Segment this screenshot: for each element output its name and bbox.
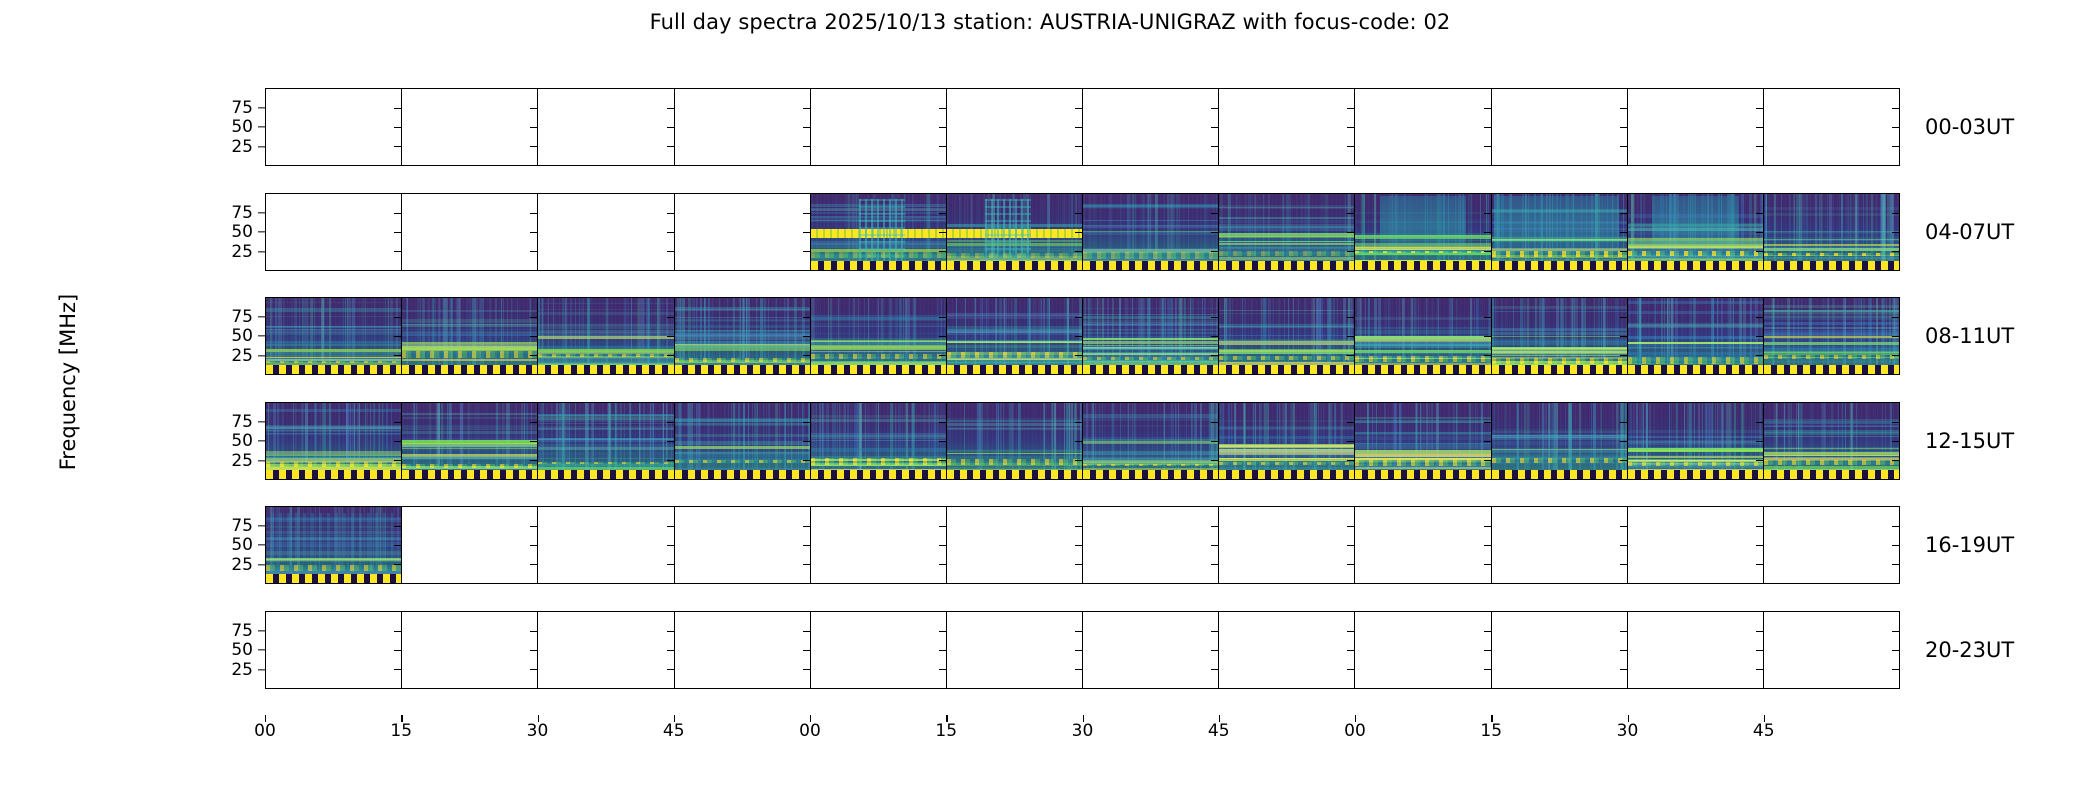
x-tick-mark xyxy=(1219,715,1220,722)
panel-tick-mark xyxy=(394,564,401,565)
panel-tick-mark xyxy=(530,232,537,233)
x-tick-mark xyxy=(1628,715,1629,722)
spectrogram-panel[interactable] xyxy=(811,298,947,374)
spectro-low-frequency-ribbon xyxy=(538,354,673,358)
spectrogram-panel[interactable] xyxy=(538,612,674,688)
spectrogram-panel[interactable] xyxy=(1764,507,1899,583)
spectrogram-panel[interactable] xyxy=(1219,612,1355,688)
panel-tick-mark xyxy=(1892,460,1899,461)
panel-tick-mark xyxy=(1075,460,1082,461)
spectrogram-panel[interactable] xyxy=(1492,89,1628,165)
figure-title: Full day spectra 2025/10/13 station: AUS… xyxy=(0,10,2100,34)
spectrogram-panel[interactable] xyxy=(1355,403,1491,479)
spectrogram-panel[interactable] xyxy=(675,403,811,479)
spectrogram-image xyxy=(811,403,946,479)
panel-tick-mark xyxy=(394,631,401,632)
panel-tick-mark xyxy=(1484,213,1491,214)
spectrogram-panel[interactable] xyxy=(675,194,811,270)
x-tick-label: 00 xyxy=(245,721,285,741)
spectrogram-panel[interactable] xyxy=(947,507,1083,583)
spectro-emission-band xyxy=(1083,220,1218,221)
spectro-emission-band xyxy=(675,423,810,427)
y-tick-label: 75 xyxy=(213,203,253,223)
y-tick-mark xyxy=(258,335,265,336)
x-tick-label: 45 xyxy=(1744,721,1784,741)
spectro-emission-band xyxy=(1764,423,1899,424)
x-tick-label: 15 xyxy=(1471,721,1511,741)
spectro-low-frequency-ribbon xyxy=(538,462,673,464)
row-axes-box xyxy=(265,88,1900,166)
row-label-2023ut: 20-23UT xyxy=(1925,638,2014,662)
spectrogram-panel[interactable] xyxy=(947,89,1083,165)
spectrogram-image xyxy=(1628,298,1763,374)
y-tick-label: 25 xyxy=(213,346,253,366)
spectrogram-panel[interactable] xyxy=(1628,612,1764,688)
panel-tick-mark xyxy=(803,526,810,527)
panel-tick-mark xyxy=(1347,669,1354,670)
panel-tick-mark xyxy=(803,545,810,546)
spectrogram-panel[interactable] xyxy=(402,507,538,583)
spectro-emission-band xyxy=(1492,222,1627,224)
panel-tick-mark xyxy=(1347,564,1354,565)
spectrogram-panel[interactable] xyxy=(1355,612,1491,688)
spectro-emission-band xyxy=(1764,336,1899,338)
spectro-emission-band xyxy=(538,467,673,469)
panel-tick-mark xyxy=(939,564,946,565)
spectrogram-panel[interactable] xyxy=(1219,194,1355,270)
spectro-emission-band xyxy=(1764,316,1899,318)
spectrogram-panel[interactable] xyxy=(402,89,538,165)
panel-tick-mark xyxy=(667,213,674,214)
spectro-emission-band xyxy=(266,558,401,560)
spectrogram-panel[interactable] xyxy=(1219,507,1355,583)
panel-tick-mark xyxy=(667,650,674,651)
spectrogram-panel[interactable] xyxy=(538,298,674,374)
spectrogram-panel[interactable] xyxy=(1764,612,1899,688)
spectrogram-panel[interactable] xyxy=(1628,403,1764,479)
spectrogram-panel[interactable] xyxy=(538,507,674,583)
panel-tick-mark xyxy=(394,422,401,423)
spectro-emission-band xyxy=(1083,207,1218,209)
spectro-emission-band xyxy=(1355,432,1490,435)
spectro-emission-band xyxy=(1083,322,1218,325)
spectro-calibration-dash-band xyxy=(1355,261,1490,270)
y-tick-label: 75 xyxy=(213,412,253,432)
spectro-emission-band xyxy=(1083,338,1218,340)
y-tick-mark xyxy=(258,107,265,108)
spectrogram-panel[interactable] xyxy=(1355,194,1491,270)
spectrogram-panel[interactable] xyxy=(1219,403,1355,479)
panel-tick-mark xyxy=(939,526,946,527)
spectrogram-image xyxy=(1083,403,1218,479)
spectro-low-frequency-ribbon xyxy=(811,354,946,359)
spectrogram-panel[interactable] xyxy=(675,298,811,374)
spectrogram-panel[interactable] xyxy=(1083,298,1219,374)
x-tick-label: 45 xyxy=(1199,721,1239,741)
panel-tick-mark xyxy=(939,355,946,356)
spectrogram-panel[interactable] xyxy=(947,403,1083,479)
panel-tick-mark xyxy=(1892,213,1899,214)
spectrogram-panel[interactable] xyxy=(1764,403,1899,479)
spectro-emission-band xyxy=(1355,417,1490,419)
spectro-low-frequency-ribbon xyxy=(1355,460,1490,465)
spectro-emission-band xyxy=(811,326,946,327)
spectro-low-frequency-ribbon xyxy=(266,565,401,572)
spectrogram-image xyxy=(538,403,673,479)
spectro-low-frequency-ribbon xyxy=(402,464,537,468)
panel-tick-mark xyxy=(803,460,810,461)
panel-tick-mark xyxy=(667,336,674,337)
spectrogram-panel[interactable] xyxy=(1355,89,1491,165)
spectro-emission-band xyxy=(1628,301,1763,303)
panel-tick-mark xyxy=(939,213,946,214)
spectro-emission-band xyxy=(402,334,537,336)
spectrogram-image xyxy=(811,194,946,270)
spectro-low-frequency-ribbon xyxy=(1764,253,1899,255)
panel-tick-mark xyxy=(1756,232,1763,233)
spectro-emission-band xyxy=(1355,249,1490,251)
panel-tick-mark xyxy=(1484,441,1491,442)
spectro-emission-band xyxy=(1219,450,1354,451)
spectro-emission-band xyxy=(1219,217,1354,219)
spectro-calibration-dash-band xyxy=(538,365,673,374)
spectro-emission-band xyxy=(1628,232,1763,235)
panel-tick-mark xyxy=(1211,232,1218,233)
spectro-emission-band xyxy=(1764,348,1899,351)
spectro-emission-band xyxy=(538,426,673,427)
panel-tick-mark xyxy=(394,460,401,461)
spectrogram-panel[interactable] xyxy=(811,507,947,583)
spectro-emission-band xyxy=(266,433,401,434)
spectro-calibration-dash-band xyxy=(1355,365,1490,374)
spectrogram-image xyxy=(1628,194,1763,270)
panel-tick-mark xyxy=(1075,108,1082,109)
spectro-emission-band xyxy=(1355,237,1490,239)
spectrogram-panel[interactable] xyxy=(538,89,674,165)
panel-tick-mark xyxy=(1756,545,1763,546)
spectro-emission-band xyxy=(1764,448,1899,449)
spectrogram-image xyxy=(1492,403,1627,479)
panel-tick-mark xyxy=(1620,564,1627,565)
spectro-low-frequency-ribbon xyxy=(1492,458,1627,463)
spectrogram-panel[interactable] xyxy=(266,89,402,165)
spectro-emission-band xyxy=(1083,204,1218,206)
spectrogram-panel[interactable] xyxy=(947,298,1083,374)
spectro-emission-band xyxy=(1083,414,1218,418)
spectro-emission-band xyxy=(1219,420,1354,422)
spectrogram-panel[interactable] xyxy=(402,612,538,688)
spectro-emission-band xyxy=(1355,447,1490,449)
spectrogram-panel[interactable] xyxy=(1083,403,1219,479)
spectrogram-image xyxy=(1355,403,1490,479)
panel-tick-mark xyxy=(394,108,401,109)
panel-tick-mark xyxy=(939,422,946,423)
panel-tick-mark xyxy=(394,317,401,318)
panel-tick-mark xyxy=(1756,650,1763,651)
spectro-emission-band xyxy=(538,303,673,304)
panel-tick-mark xyxy=(1075,526,1082,527)
spectro-emission-band xyxy=(1355,240,1490,241)
panel-tick-mark xyxy=(530,441,537,442)
spectro-emission-band xyxy=(1083,441,1218,444)
spectro-emission-band xyxy=(675,346,810,348)
spectro-emission-band xyxy=(402,346,537,348)
spectro-emission-band xyxy=(1628,342,1763,344)
panel-tick-mark xyxy=(1211,146,1218,147)
x-tick-label: 00 xyxy=(790,721,830,741)
spectrogram-panel[interactable] xyxy=(1764,89,1899,165)
panel-tick-mark xyxy=(1211,355,1218,356)
x-tick-label: 30 xyxy=(1608,721,1648,741)
panel-tick-mark xyxy=(1484,355,1491,356)
panel-tick-mark xyxy=(1075,232,1082,233)
x-tick-label: 15 xyxy=(926,721,966,741)
panel-tick-mark xyxy=(803,441,810,442)
spectrogram-panel[interactable] xyxy=(811,403,947,479)
panel-tick-mark xyxy=(1892,526,1899,527)
spectro-emission-band xyxy=(1628,325,1763,326)
spectro-emission-band xyxy=(1083,332,1218,334)
panel-tick-mark xyxy=(939,317,946,318)
panel-tick-mark xyxy=(1620,146,1627,147)
spectro-emission-band xyxy=(1764,305,1899,309)
panel-tick-mark xyxy=(1484,108,1491,109)
y-tick-mark xyxy=(258,251,265,252)
panel-tick-mark xyxy=(530,526,537,527)
spectro-emission-band xyxy=(1628,240,1763,243)
spectrogram-image xyxy=(1355,194,1490,270)
spectrogram-image xyxy=(266,298,401,374)
panel-tick-mark xyxy=(667,669,674,670)
spectro-calibration-dash-band xyxy=(1764,470,1899,479)
panel-tick-mark xyxy=(667,127,674,128)
spectrogram-panel[interactable] xyxy=(402,194,538,270)
spectrogram-panel[interactable] xyxy=(266,403,402,479)
spectrogram-panel[interactable] xyxy=(675,612,811,688)
spectro-emission-band xyxy=(1219,427,1354,429)
spectrogram-panel[interactable] xyxy=(1492,612,1628,688)
panel-tick-mark xyxy=(1756,146,1763,147)
panel-tick-mark xyxy=(667,526,674,527)
y-tick-mark xyxy=(258,355,265,356)
panel-tick-mark xyxy=(1620,650,1627,651)
spectro-emission-band xyxy=(1628,244,1763,246)
spectro-emission-band xyxy=(1492,341,1627,345)
spectrogram-panel[interactable] xyxy=(1764,194,1899,270)
row-axes-box xyxy=(265,297,1900,375)
y-tick-mark xyxy=(258,649,265,650)
spectrogram-panel[interactable] xyxy=(1355,298,1491,374)
spectrogram-panel[interactable] xyxy=(1628,298,1764,374)
panel-tick-mark xyxy=(1756,631,1763,632)
spectro-emission-band xyxy=(1492,437,1627,439)
spectro-low-frequency-ribbon xyxy=(811,458,946,464)
spectrogram-panel[interactable] xyxy=(538,194,674,270)
spectro-emission-band xyxy=(811,415,946,418)
spectro-calibration-dash-band xyxy=(1219,470,1354,479)
spectrogram-panel[interactable] xyxy=(1219,298,1355,374)
spectrogram-panel[interactable] xyxy=(1492,194,1628,270)
spectrogram-panel[interactable] xyxy=(266,298,402,374)
panel-tick-mark xyxy=(1620,631,1627,632)
spectro-emission-band xyxy=(1764,426,1899,427)
spectro-low-frequency-ribbon xyxy=(947,459,1082,465)
spectro-emission-band xyxy=(402,456,537,459)
spectrogram-panel[interactable] xyxy=(402,298,538,374)
spectrogram-panel[interactable] xyxy=(266,194,402,270)
y-tick-mark xyxy=(258,231,265,232)
panel-tick-mark xyxy=(1211,441,1218,442)
spectrogram-row-08-11 xyxy=(265,297,1900,375)
panel-tick-mark xyxy=(803,669,810,670)
spectrogram-image xyxy=(1764,194,1899,270)
spectro-emission-band xyxy=(1219,445,1354,447)
spectro-low-frequency-ribbon xyxy=(1764,355,1899,358)
spectro-emission-band xyxy=(1083,225,1218,226)
spectrogram-panel[interactable] xyxy=(675,507,811,583)
y-tick-mark xyxy=(258,421,265,422)
spectro-emission-band xyxy=(675,317,810,319)
spectro-emission-band xyxy=(266,350,401,353)
y-tick-mark xyxy=(258,440,265,441)
spectrogram-row-20-23 xyxy=(265,611,1900,689)
spectro-emission-band xyxy=(266,526,401,528)
spectro-emission-band xyxy=(947,453,1082,454)
panel-tick-mark xyxy=(803,317,810,318)
panel-tick-mark xyxy=(530,545,537,546)
spectro-emission-band xyxy=(1492,216,1627,218)
spectrogram-panel[interactable] xyxy=(266,507,402,583)
panel-tick-mark xyxy=(1347,336,1354,337)
spectro-emission-band xyxy=(1219,233,1354,237)
panel-tick-mark xyxy=(1892,317,1899,318)
spectrogram-image xyxy=(1492,298,1627,374)
spectro-emission-band xyxy=(1219,310,1354,312)
spectro-emission-band xyxy=(1764,334,1899,335)
spectro-emission-band xyxy=(538,309,673,311)
spectro-emission-band xyxy=(1764,338,1899,339)
y-tick-mark xyxy=(258,212,265,213)
panel-tick-mark xyxy=(939,251,946,252)
spectrogram-panel[interactable] xyxy=(1492,403,1628,479)
spectrogram-panel[interactable] xyxy=(1492,507,1628,583)
spectro-emission-band xyxy=(1764,248,1899,251)
spectrogram-panel[interactable] xyxy=(947,194,1083,270)
panel-tick-mark xyxy=(667,545,674,546)
spectro-emission-band xyxy=(1219,440,1354,441)
spectrogram-panel[interactable] xyxy=(1083,612,1219,688)
panel-tick-mark xyxy=(803,146,810,147)
spectrogram-panel[interactable] xyxy=(811,89,947,165)
spectrogram-panel[interactable] xyxy=(1083,507,1219,583)
spectrogram-panel[interactable] xyxy=(675,89,811,165)
spectro-calibration-dash-band xyxy=(1492,470,1627,479)
spectro-emission-band xyxy=(1492,210,1627,212)
spectrogram-panel[interactable] xyxy=(1628,89,1764,165)
spectro-calibration-dash-band xyxy=(1083,470,1218,479)
panel-tick-mark xyxy=(1756,460,1763,461)
spectro-emission-band xyxy=(675,337,810,340)
spectrogram-image xyxy=(947,298,1082,374)
y-tick-mark xyxy=(258,460,265,461)
spectro-emission-band xyxy=(1628,214,1763,218)
spectro-emission-band xyxy=(538,419,673,423)
row-label-0811ut: 08-11UT xyxy=(1925,324,2014,348)
spectro-emission-band xyxy=(675,434,810,437)
panel-tick-mark xyxy=(1347,127,1354,128)
spectrogram-panel[interactable] xyxy=(1764,298,1899,374)
panel-tick-mark xyxy=(1484,669,1491,670)
panel-tick-mark xyxy=(1892,564,1899,565)
panel-tick-mark xyxy=(939,460,946,461)
y-tick-label: 25 xyxy=(213,555,253,575)
panel-tick-mark xyxy=(1892,336,1899,337)
spectro-emission-band xyxy=(1492,329,1627,332)
spectro-emission-band xyxy=(266,345,401,346)
spectro-emission-band xyxy=(1083,250,1218,251)
spectrogram-panel[interactable] xyxy=(402,403,538,479)
panel-tick-mark xyxy=(1211,650,1218,651)
x-tick-label: 00 xyxy=(1335,721,1375,741)
panel-tick-mark xyxy=(939,441,946,442)
spectrogram-panel[interactable] xyxy=(1492,298,1628,374)
spectrogram-panel[interactable] xyxy=(1083,89,1219,165)
spectrogram-panel[interactable] xyxy=(1628,194,1764,270)
panel-tick-mark xyxy=(394,232,401,233)
spectrogram-panel[interactable] xyxy=(538,403,674,479)
spectro-emission-band xyxy=(402,329,537,330)
spectro-calibration-dash-band xyxy=(538,470,673,479)
panel-tick-mark xyxy=(667,232,674,233)
spectro-emission-band xyxy=(266,316,401,317)
spectro-emission-band xyxy=(1628,430,1763,434)
spectrogram-panel[interactable] xyxy=(1355,507,1491,583)
spectro-emission-band xyxy=(266,537,401,540)
y-tick-label: 25 xyxy=(213,451,253,471)
spectro-emission-band xyxy=(1492,240,1627,241)
spectro-emission-band xyxy=(1492,228,1627,230)
spectrogram-panel[interactable] xyxy=(1219,89,1355,165)
panel-tick-mark xyxy=(1620,336,1627,337)
spectrogram-panel[interactable] xyxy=(811,194,947,270)
panel-tick-mark xyxy=(1075,213,1082,214)
spectrogram-image xyxy=(1083,194,1218,270)
panel-tick-mark xyxy=(1347,650,1354,651)
spectro-emission-band xyxy=(1083,308,1218,309)
panel-tick-mark xyxy=(530,108,537,109)
spectro-emission-band xyxy=(402,438,537,441)
panel-tick-mark xyxy=(394,251,401,252)
spectro-emission-band xyxy=(1355,330,1490,333)
spectro-emission-band xyxy=(1764,432,1899,435)
spectrogram-panel[interactable] xyxy=(1628,507,1764,583)
panel-tick-mark xyxy=(803,232,810,233)
spectro-calibration-dash-band xyxy=(675,470,810,479)
spectro-emission-band xyxy=(811,333,946,334)
spectrogram-image xyxy=(266,507,401,583)
x-tick-label: 15 xyxy=(381,721,421,741)
spectrogram-panel[interactable] xyxy=(811,612,947,688)
spectro-emission-band xyxy=(1764,231,1899,232)
panel-tick-mark xyxy=(939,631,946,632)
panel-tick-mark xyxy=(1211,631,1218,632)
spectrogram-panel[interactable] xyxy=(1083,194,1219,270)
spectrogram-panel[interactable] xyxy=(947,612,1083,688)
spectro-emission-band xyxy=(1355,338,1490,342)
panel-tick-mark xyxy=(394,526,401,527)
spectrogram-panel[interactable] xyxy=(266,612,402,688)
spectrogram-image xyxy=(675,403,810,479)
